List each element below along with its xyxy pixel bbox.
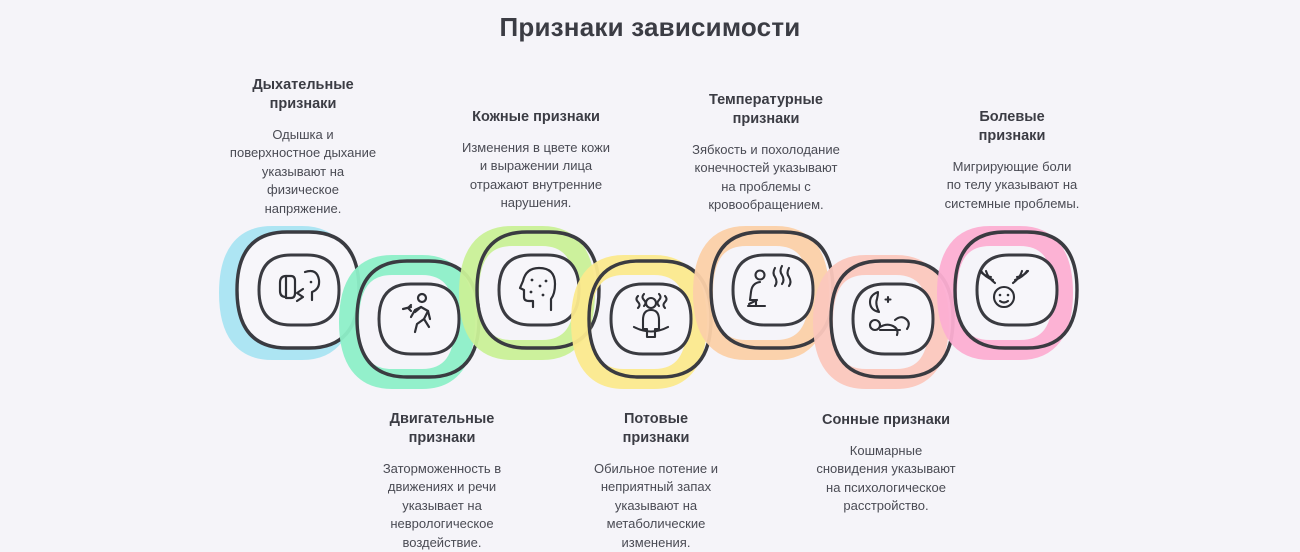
- page-title: Признаки зависимости: [0, 12, 1300, 43]
- label-title-pain: Болевые признаки: [920, 108, 1104, 146]
- link-inner-skin: [499, 255, 579, 325]
- link-inner-sleep: [853, 284, 933, 354]
- label-title-temperature: Температурные признаки: [668, 91, 864, 129]
- chain-link-motor[interactable]: [349, 261, 479, 379]
- link-inner-temperature: [733, 255, 813, 325]
- label-desc-skin: Изменения в цвете кожи и выражении лица …: [443, 139, 629, 213]
- label-title-motor: Двигательные признаки: [352, 410, 532, 448]
- link-inner-sweat: [611, 284, 691, 354]
- label-block-skin: Кожные признаки Изменения в цвете кожи и…: [443, 108, 629, 213]
- link-inner-respiratory: [259, 255, 339, 325]
- label-desc-motor: Заторможенность в движениях и речи указы…: [352, 460, 532, 552]
- chain-link-pain[interactable]: [947, 232, 1077, 350]
- chain-link-sleep[interactable]: [823, 261, 953, 379]
- chain-link-sweat[interactable]: [581, 261, 711, 379]
- label-block-temperature: Температурные признаки Зябкость и похоло…: [668, 91, 864, 215]
- label-title-sleep: Сонные признаки: [790, 411, 982, 430]
- infographic-canvas: Признаки зависимости Дыхательные признак…: [0, 0, 1300, 546]
- label-desc-respiratory: Одышка и поверхностное дыхание указывают…: [215, 126, 391, 218]
- label-desc-sleep: Кошмарные сновидения указывают на психол…: [790, 442, 982, 516]
- label-desc-temperature: Зябкость и похолодание конечностей указы…: [668, 141, 864, 215]
- label-block-sleep: Сонные признаки Кошмарные сновидения ука…: [790, 411, 982, 516]
- label-title-skin: Кожные признаки: [443, 108, 629, 127]
- label-block-pain: Болевые признаки Мигрирующие боли по тел…: [920, 108, 1104, 213]
- label-title-sweat: Потовые признаки: [572, 410, 740, 448]
- link-inner-pain: [977, 255, 1057, 325]
- label-title-respiratory: Дыхательные признаки: [215, 76, 391, 114]
- label-block-sweat: Потовые признаки Обильное потение и непр…: [572, 410, 740, 552]
- label-block-respiratory: Дыхательные признаки Одышка и поверхност…: [215, 76, 391, 218]
- label-desc-sweat: Обильное потение и неприятный запах указ…: [572, 460, 740, 552]
- label-block-motor: Двигательные признаки Заторможенность в …: [352, 410, 532, 552]
- label-desc-pain: Мигрирующие боли по телу указывают на си…: [920, 158, 1104, 213]
